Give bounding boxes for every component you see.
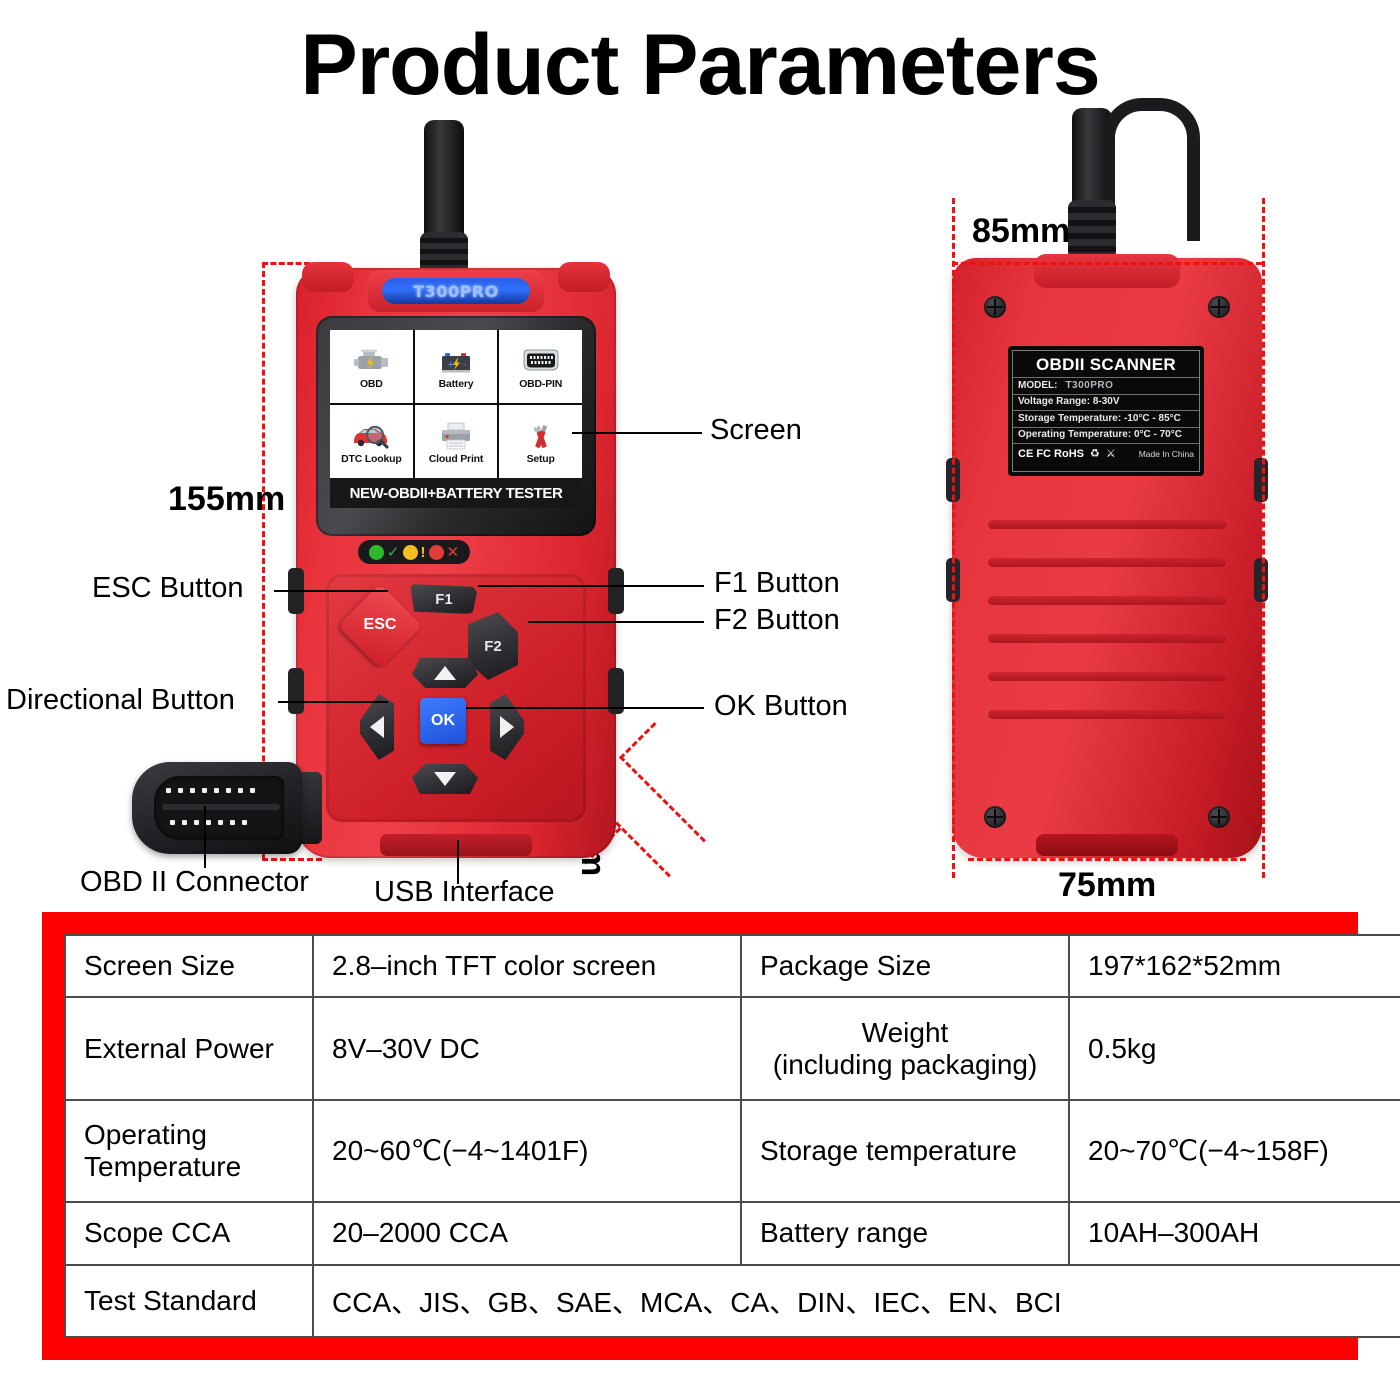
leader-f1 — [478, 585, 704, 587]
leader-f2 — [528, 621, 704, 623]
leader-ok — [466, 707, 704, 709]
table-row: Screen Size 2.8–inch TFT color screen Pa… — [65, 935, 1400, 997]
menu-item-battery[interactable]: + - Battery — [415, 330, 498, 403]
table-row: External Power 8V–30V DC Weight (includi… — [65, 997, 1400, 1099]
leader-obd-connector — [204, 806, 206, 868]
menu-label-obd: OBD — [360, 379, 383, 390]
cell-key-operating-line1: Operating — [84, 1119, 294, 1151]
dim-guide-thickness-b — [619, 755, 706, 842]
label-model-row: MODEL: T300PRO — [1013, 377, 1199, 394]
led-indicator-strip: ✓ ! ✕ — [358, 540, 470, 564]
cell-key-operating-temperature: Operating Temperature — [65, 1100, 313, 1202]
cell-value-external-power: 8V–30V DC — [313, 997, 741, 1099]
back-side-button-right-upper — [1254, 458, 1268, 502]
menu-item-dtc-lookup[interactable]: DTC Lookup — [330, 405, 413, 478]
cell-key-weight-line1: Weight — [760, 1017, 1050, 1049]
obd-connector-icon — [519, 344, 563, 378]
label-model-key: MODEL: — [1018, 381, 1057, 392]
back-ridge-4 — [988, 634, 1226, 643]
back-ridge-6 — [988, 710, 1226, 719]
dim-guide-back-left — [952, 198, 955, 878]
menu-label-dtc-lookup: DTC Lookup — [341, 454, 401, 465]
leader-screen — [572, 432, 702, 434]
arrow-right-icon — [500, 716, 514, 738]
back-ridge-3 — [988, 596, 1226, 605]
label-made-in: Made In China — [1139, 449, 1194, 459]
device-back-view: OBDII SCANNER MODEL: T300PRO Voltage Ran… — [952, 258, 1262, 858]
brand-logo-bar: T300PRO — [382, 278, 530, 304]
callout-esc-button: ESC Button — [92, 572, 244, 605]
callout-f2-button: F2 Button — [714, 604, 840, 637]
back-side-button-right-lower — [1254, 558, 1268, 602]
screw-bottom-right — [1208, 806, 1230, 828]
label-voltage-range: Voltage Range: 8-30V — [1013, 394, 1199, 411]
obd-pin-row-bottom — [170, 820, 247, 825]
cross-icon: ✕ — [447, 545, 460, 560]
callout-screen: Screen — [710, 414, 802, 447]
menu-item-cloud-print[interactable]: Cloud Print — [415, 405, 498, 478]
svg-text:-: - — [463, 360, 466, 370]
cell-value-scope-cca: 20–2000 CCA — [313, 1202, 741, 1264]
spec-table-frame: Screen Size 2.8–inch TFT color screen Pa… — [42, 912, 1358, 1360]
dimension-back-bottom-width-label: 75mm — [1058, 866, 1156, 905]
dim-guide-thickness-cap — [619, 722, 656, 759]
screen-footer-text: NEW-OBDII+BATTERY TESTER — [350, 485, 563, 502]
back-ridge-5 — [988, 672, 1226, 681]
direction-right-button[interactable] — [490, 694, 524, 760]
side-button-right-upper[interactable] — [608, 568, 624, 614]
arrow-left-icon — [370, 716, 384, 738]
back-cable-strain-relief — [1068, 200, 1116, 260]
yellow-warning-led — [403, 545, 418, 560]
usb-interface-port[interactable] — [380, 834, 532, 856]
cell-value-weight: 0.5kg — [1069, 997, 1400, 1099]
menu-item-setup[interactable]: Setup — [499, 405, 582, 478]
screw-top-right — [1208, 296, 1230, 318]
arrow-down-icon — [434, 772, 456, 786]
weee-bin-icon: ⚔ — [1106, 447, 1116, 460]
cell-value-storage-temperature: 20~70℃(−4~158F) — [1069, 1100, 1400, 1202]
leader-esc — [274, 590, 388, 592]
cell-key-package-size: Package Size — [741, 935, 1069, 997]
device-screen[interactable]: OBD + - Battery — [330, 330, 582, 508]
dim-guide-bottom-horizontal — [262, 858, 322, 861]
back-ridge-1 — [988, 520, 1226, 529]
product-spec-label: OBDII SCANNER MODEL: T300PRO Voltage Ran… — [1008, 346, 1204, 476]
cell-key-weight-line2: (including packaging) — [760, 1049, 1050, 1081]
table-row: Scope CCA 20–2000 CCA Battery range 10AH… — [65, 1202, 1400, 1264]
cell-key-scope-cca: Scope CCA — [65, 1202, 313, 1264]
menu-item-obd-pin[interactable]: OBD-PIN — [499, 330, 582, 403]
side-button-left-lower[interactable] — [288, 668, 304, 714]
dim-guide-top-horizontal — [262, 262, 310, 265]
car-magnifier-icon — [349, 419, 393, 453]
cell-key-battery-range: Battery range — [741, 1202, 1069, 1264]
printer-icon — [434, 419, 478, 453]
menu-item-obd[interactable]: OBD — [330, 330, 413, 403]
cell-value-test-standard: CCA、JIS、GB、SAE、MCA、CA、DIN、IEC、EN、BCI — [313, 1265, 1400, 1337]
callout-directional-button: Directional Button — [6, 684, 235, 717]
back-ridge-2 — [988, 558, 1226, 567]
spec-table: Screen Size 2.8–inch TFT color screen Pa… — [64, 934, 1400, 1338]
cell-value-battery-range: 10AH–300AH — [1069, 1202, 1400, 1264]
check-icon: ✓ — [387, 545, 400, 560]
menu-label-setup: Setup — [527, 454, 555, 465]
callout-obd-connector: OBD II Connector — [80, 866, 309, 899]
arrow-up-icon — [434, 666, 456, 680]
f1-button-label: F1 — [435, 591, 453, 608]
label-title: OBDII SCANNER — [1013, 351, 1199, 377]
cell-key-operating-line2: Temperature — [84, 1151, 294, 1183]
green-ok-led — [369, 545, 384, 560]
table-row: Test Standard CCA、JIS、GB、SAE、MCA、CA、DIN、… — [65, 1265, 1400, 1337]
cell-key-screen-size: Screen Size — [65, 935, 313, 997]
obd-ii-connector — [132, 762, 312, 858]
menu-label-battery: Battery — [439, 379, 474, 390]
obd-pin-row-top — [166, 788, 255, 793]
certification-marks: CE FC RoHS — [1018, 448, 1084, 460]
back-bottom-cutout — [1036, 834, 1178, 856]
tools-icon — [519, 419, 563, 453]
dim-guide-back-right — [1262, 198, 1265, 878]
red-error-led — [429, 545, 444, 560]
callout-ok-button: OK Button — [714, 690, 848, 723]
back-top-hump — [1034, 254, 1180, 288]
direction-left-button[interactable] — [360, 694, 394, 760]
menu-label-obd-pin: OBD-PIN — [519, 379, 562, 390]
cell-key-storage-temperature: Storage temperature — [741, 1100, 1069, 1202]
obd-divider-rail — [162, 804, 280, 810]
battery-icon: + - — [434, 344, 478, 378]
esc-button-label: ESC — [360, 616, 400, 634]
f1-button[interactable]: F1 — [410, 584, 478, 614]
cell-value-package-size: 197*162*52mm — [1069, 935, 1400, 997]
label-storage-temperature: Storage Temperature: -10°C - 85°C — [1013, 410, 1199, 427]
screw-top-left — [984, 296, 1006, 318]
leader-directional — [278, 701, 388, 703]
ok-button-label: OK — [431, 712, 455, 730]
callout-usb-interface: USB Interface — [374, 876, 555, 909]
dimension-back-width-label: 85mm — [972, 212, 1070, 251]
menu-label-cloud-print: Cloud Print — [429, 454, 483, 465]
dimension-height-label: 155mm — [168, 480, 285, 519]
direction-down-button[interactable] — [412, 764, 478, 794]
back-cable-loop — [1102, 98, 1200, 241]
screen-footer-banner: NEW-OBDII+BATTERY TESTER — [330, 478, 582, 508]
page-title: Product Parameters — [0, 22, 1400, 108]
f2-button-label: F2 — [484, 638, 502, 655]
device-front-view: T300PRO OBD — [296, 268, 616, 858]
engine-icon — [349, 344, 393, 378]
cell-key-weight: Weight (including packaging) — [741, 997, 1069, 1099]
callout-f1-button: F1 Button — [714, 567, 840, 600]
dim-guide-back-top — [952, 262, 1262, 265]
cell-key-test-standard: Test Standard — [65, 1265, 313, 1337]
label-operating-temperature: Operating Temperature: 0°C - 70°C — [1013, 427, 1199, 444]
ok-button[interactable]: OK — [420, 698, 466, 744]
shoulder-left — [302, 262, 354, 292]
screen-icon-grid: OBD + - Battery — [330, 330, 582, 478]
recycle-icon: ♻ — [1090, 447, 1100, 460]
label-certification-row: CE FC RoHS ♻ ⚔ Made In China — [1013, 443, 1199, 463]
screw-bottom-left — [984, 806, 1006, 828]
label-model-value: T300PRO — [1065, 381, 1113, 392]
keypad-panel: ESC F1 F2 OK — [326, 574, 586, 822]
brand-logo-text: T300PRO — [413, 282, 498, 301]
dim-guide-back-bottom — [968, 858, 1246, 861]
exclamation-icon: ! — [421, 545, 426, 560]
shoulder-right — [558, 262, 610, 292]
cell-value-operating-temperature: 20~60℃(−4~1401F) — [313, 1100, 741, 1202]
direction-up-button[interactable] — [412, 658, 478, 688]
cell-value-screen-size: 2.8–inch TFT color screen — [313, 935, 741, 997]
cell-key-external-power: External Power — [65, 997, 313, 1099]
table-row: Operating Temperature 20~60℃(−4~1401F) S… — [65, 1100, 1400, 1202]
